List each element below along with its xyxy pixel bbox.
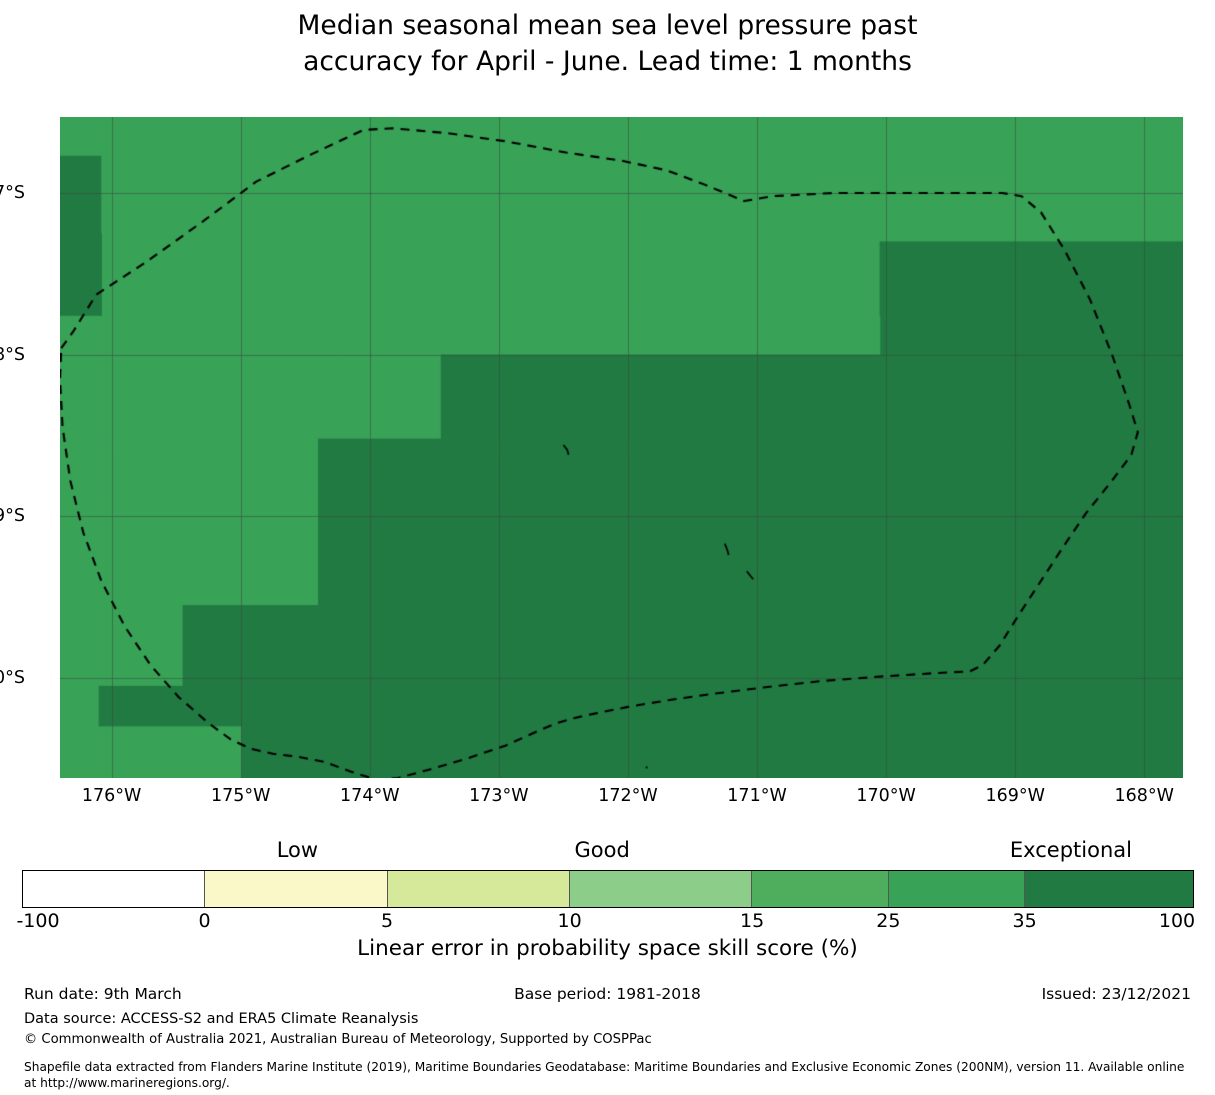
y-axis-tick-label: 8°S bbox=[0, 345, 25, 365]
x-axis-tick-label: 175°W bbox=[211, 786, 270, 806]
footer-run-date: Run date: 9th March bbox=[24, 985, 182, 1003]
colorbar-tick-label: 35 bbox=[1013, 910, 1037, 932]
colorbar-category-label: Good bbox=[574, 838, 629, 862]
footer: Run date: 9th March Base period: 1981-20… bbox=[0, 985, 1215, 1095]
x-axis-tick-label: 176°W bbox=[82, 786, 141, 806]
colorbar: LowGoodExceptional -1000510152535100 Lin… bbox=[0, 838, 1215, 953]
colorbar-tick-label: 100 bbox=[1159, 910, 1195, 932]
x-axis-tick-label: 172°W bbox=[598, 786, 657, 806]
x-axis-tick-label: 171°W bbox=[727, 786, 786, 806]
colorbar-segment bbox=[752, 871, 888, 907]
colorbar-segment bbox=[570, 871, 752, 907]
footer-copyright: © Commonwealth of Australia 2021, Austra… bbox=[24, 1032, 652, 1047]
colorbar-gradient-bar bbox=[22, 870, 1194, 908]
colorbar-segment bbox=[889, 871, 1025, 907]
x-axis-tick-label: 169°W bbox=[985, 786, 1044, 806]
x-axis-tick-label: 168°W bbox=[1115, 786, 1174, 806]
map-heatmap-canvas bbox=[60, 117, 1183, 778]
colorbar-tick-label: -100 bbox=[16, 910, 59, 932]
colorbar-tick-label: 15 bbox=[740, 910, 764, 932]
colorbar-category-labels: LowGoodExceptional bbox=[0, 838, 1215, 864]
colorbar-segment bbox=[1025, 871, 1193, 907]
x-axis-tick-label: 174°W bbox=[340, 786, 399, 806]
footer-issued-date: Issued: 23/12/2021 bbox=[1042, 985, 1191, 1003]
colorbar-tick-label: 5 bbox=[381, 910, 393, 932]
colorbar-axis-title: Linear error in probability space skill … bbox=[0, 936, 1215, 961]
y-axis-tick-label: 9°S bbox=[0, 506, 25, 526]
page-title: Median seasonal mean sea level pressure … bbox=[0, 8, 1215, 80]
footer-data-source: Data source: ACCESS-S2 and ERA5 Climate … bbox=[24, 1011, 418, 1027]
colorbar-tick-label: 25 bbox=[876, 910, 900, 932]
colorbar-category-label: Low bbox=[277, 838, 318, 862]
colorbar-tick-label: 0 bbox=[198, 910, 210, 932]
colorbar-category-label: Exceptional bbox=[1010, 838, 1132, 862]
colorbar-tick-label: 10 bbox=[558, 910, 582, 932]
colorbar-segment bbox=[388, 871, 570, 907]
colorbar-tick-labels: -1000510152535100 bbox=[0, 910, 1215, 936]
colorbar-segment bbox=[205, 871, 387, 907]
x-axis-tick-label: 173°W bbox=[469, 786, 528, 806]
footer-shapefile-note: Shapefile data extracted from Flanders M… bbox=[24, 1059, 1199, 1091]
x-axis-tick-label: 170°W bbox=[856, 786, 915, 806]
footer-top-row: Run date: 9th March Base period: 1981-20… bbox=[24, 985, 1191, 1007]
colorbar-segment bbox=[23, 871, 205, 907]
y-axis-tick-label: 10°S bbox=[0, 668, 25, 688]
y-axis-tick-label: 7°S bbox=[0, 183, 25, 203]
map-plot-area bbox=[60, 117, 1183, 778]
footer-base-period: Base period: 1981-2018 bbox=[514, 985, 701, 1003]
